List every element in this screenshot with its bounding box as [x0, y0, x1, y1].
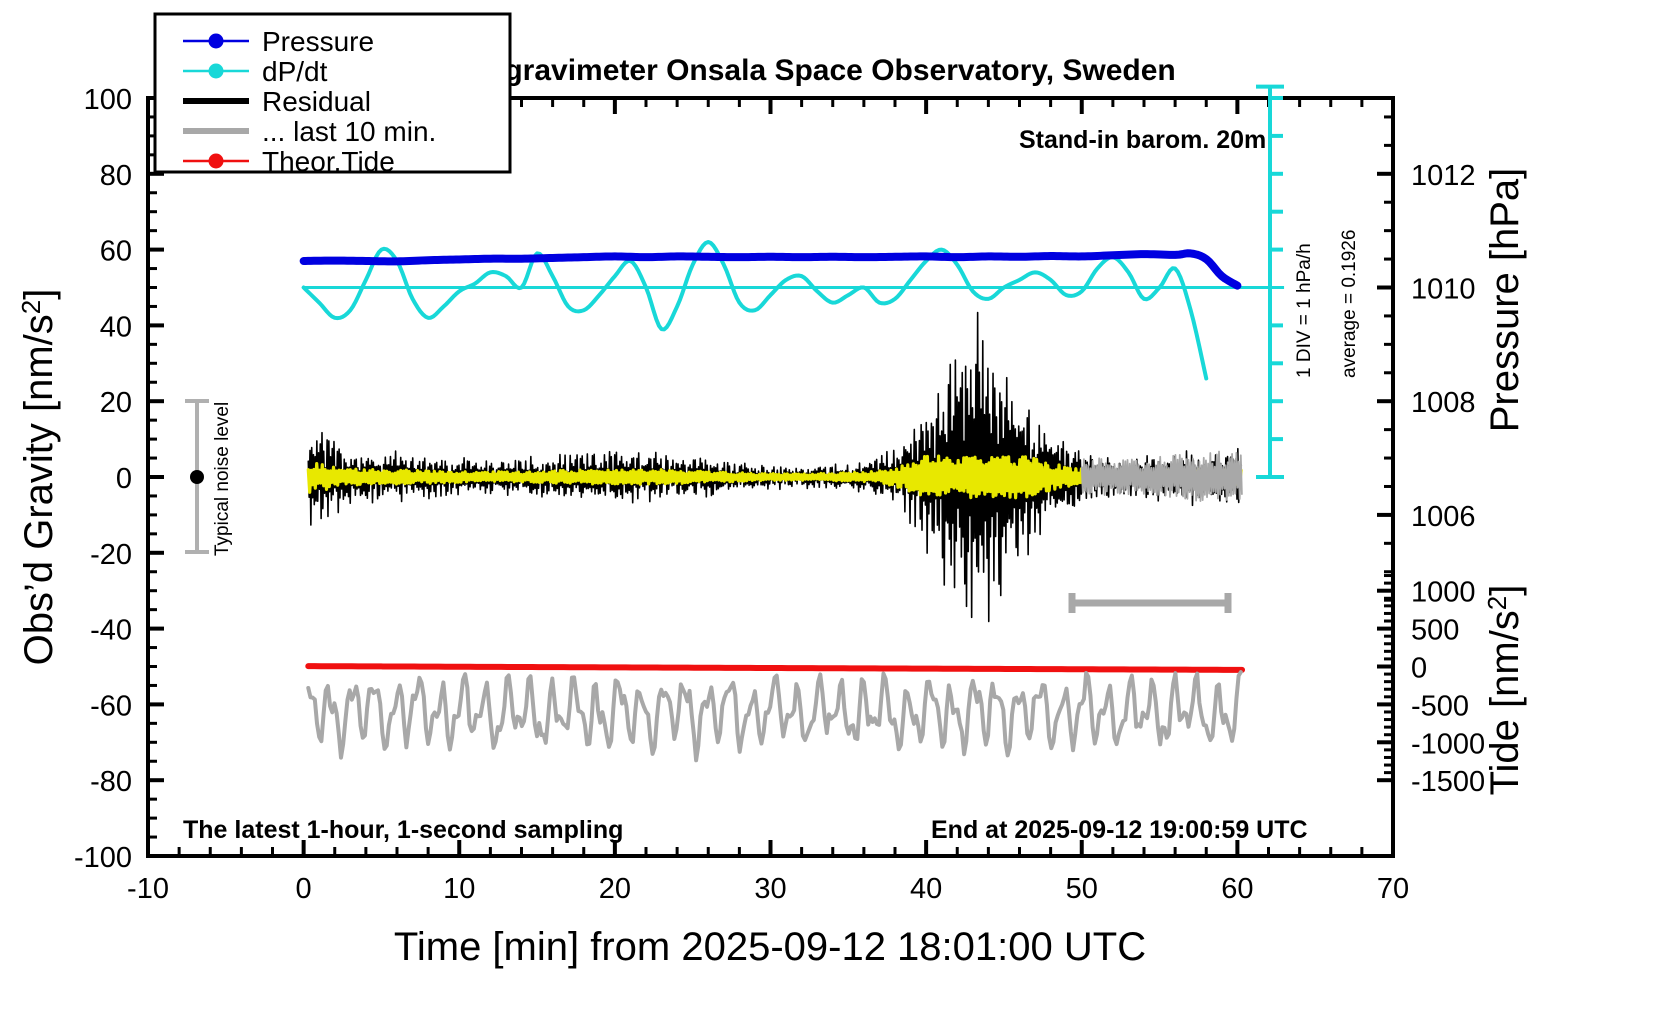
right-tide-tick-label: -500: [1411, 690, 1469, 722]
y-tick-label: 80: [100, 160, 132, 192]
theor-tide-trace: [308, 666, 1242, 670]
x-tick-label: -10: [127, 873, 169, 905]
x-tick-label: 50: [1066, 873, 1098, 905]
legend-label: Pressure: [262, 26, 374, 57]
legend-marker: [209, 154, 224, 169]
right-tide-tick-label: 1000: [1411, 577, 1476, 609]
y-tick-label: -60: [90, 690, 132, 722]
right-pressure-tick-label: 1012: [1411, 160, 1476, 192]
y-axis-title-text: Obs’d Gravity [nm/s: [17, 314, 61, 665]
y-axis-title: Obs’d Gravity [nm/s2]: [16, 289, 61, 666]
typical-noise-level-label: Typical noise level: [212, 402, 233, 556]
y-tick-label: 0: [116, 463, 132, 495]
x-tick-label: 20: [599, 873, 631, 905]
y-tick-label: 40: [100, 311, 132, 343]
chart-page: -10010203040506070 -100-80-60-40-2002040…: [0, 0, 1660, 1020]
y-tick-label: -40: [90, 615, 132, 647]
right-pressure-tick-label: 1006: [1411, 501, 1476, 533]
y-tick-label: -80: [90, 766, 132, 798]
y-tick-label: 60: [100, 236, 132, 268]
right-pressure-tick-label: 1008: [1411, 387, 1476, 419]
x-tick-label: 70: [1377, 873, 1409, 905]
average-label: average = 0.1926: [1339, 230, 1360, 378]
legend-label: dP/dt: [262, 56, 328, 87]
y-tick-label: -100: [74, 842, 132, 874]
y-tick-label: 20: [100, 387, 132, 419]
footer-left-label: The latest 1-hour, 1-second sampling: [183, 816, 623, 844]
y-tick-label: -20: [90, 539, 132, 571]
right-pressure-axis-title: Pressure [hPa]: [1483, 168, 1527, 433]
legend-label: ... last 10 min.: [262, 116, 436, 147]
y-tick-label: 100: [84, 84, 132, 116]
x-tick-label: 30: [754, 873, 786, 905]
legend-marker: [209, 64, 224, 79]
x-tick-label: 40: [910, 873, 942, 905]
right-tide-tick-label: -1500: [1411, 766, 1485, 798]
x-tick-label: 60: [1221, 873, 1253, 905]
legend-label: Residual: [262, 86, 371, 117]
legend: PressuredP/dtResidual... last 10 min.The…: [155, 14, 510, 177]
right-tide-tick-label: 0: [1411, 653, 1427, 685]
right-tide-tick-label: 500: [1411, 615, 1459, 647]
x-tick-label: 0: [296, 873, 312, 905]
x-tick-label: 10: [443, 873, 475, 905]
footer-right-label: End at 2025-09-12 19:00:59 UTC: [931, 816, 1308, 844]
div-scale-label: 1 DIV = 1 hPa/h: [1294, 243, 1315, 378]
right-pressure-tick-label: 1010: [1411, 274, 1476, 306]
x-axis-title: Time [min] from 2025-09-12 18:01:00 UTC: [394, 925, 1146, 969]
standin-barometer-label: Stand-in barom. 20m: [1019, 126, 1266, 154]
legend-label: Theor.Tide: [262, 146, 395, 177]
gravimeter-chart: -10010203040506070 -100-80-60-40-2002040…: [0, 0, 1660, 1020]
legend-marker: [209, 34, 224, 49]
right-tide-tick-label: -1000: [1411, 728, 1485, 760]
right-tide-axis-title: Tide [nm/s2]: [1482, 585, 1527, 796]
